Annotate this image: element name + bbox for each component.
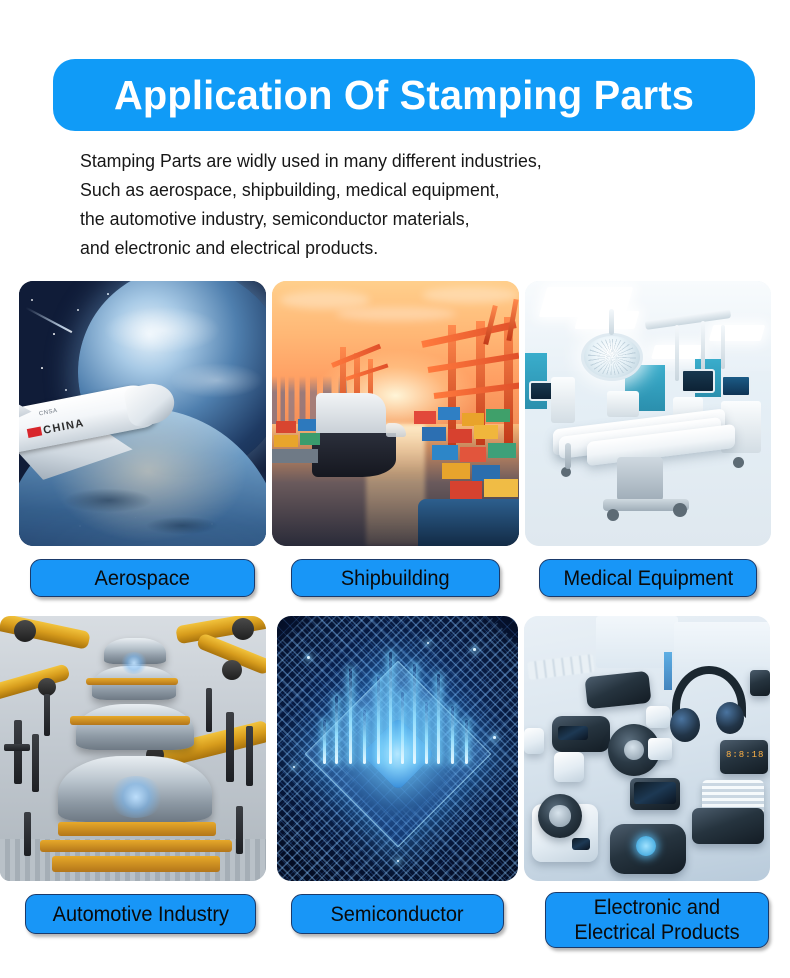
fixture-post	[246, 726, 253, 786]
electronic-and-electrical-products-image: 8:8:18	[524, 616, 770, 881]
pendant-column	[721, 325, 725, 369]
table-column	[617, 457, 663, 501]
keyboard	[527, 654, 595, 680]
spark	[293, 766, 295, 768]
shipbuilding-image	[272, 281, 519, 546]
device-cylinder	[554, 752, 584, 782]
cloud	[336, 307, 456, 321]
industry-label: Aerospace	[95, 566, 190, 591]
device-screen	[634, 782, 676, 804]
light-beam	[389, 652, 392, 764]
container	[298, 419, 316, 431]
medical-equipment-image	[525, 281, 771, 546]
fixture-crossbar	[4, 744, 30, 751]
lamp-arm	[609, 309, 614, 335]
speaker-center	[624, 740, 645, 761]
container	[276, 421, 296, 433]
light-beam	[363, 710, 366, 764]
container	[432, 445, 458, 460]
assembly-line-scene	[0, 616, 266, 881]
poster-page: Application Of Stamping Parts Stamping P…	[0, 0, 790, 977]
label-pill-medical-equipment[interactable]: Medical Equipment	[539, 559, 757, 597]
container	[474, 425, 498, 439]
light-beam	[451, 706, 454, 764]
robot-joint	[14, 620, 36, 642]
monitor	[681, 369, 715, 393]
container	[300, 433, 320, 445]
pallet	[52, 856, 220, 872]
led-indicator	[636, 836, 656, 856]
fixture-post	[24, 812, 31, 856]
container	[488, 443, 516, 458]
device-small	[750, 670, 770, 696]
intro-line-3: the automotive industry, semiconductor m…	[80, 204, 704, 233]
intro-line-4: and electronic and electrical products.	[80, 233, 704, 262]
caster-wheel	[607, 509, 619, 521]
device-slab	[585, 671, 652, 710]
device-port	[572, 838, 590, 850]
industry-label: Semiconductor	[331, 902, 464, 927]
light-beam	[425, 702, 428, 764]
device-cube	[646, 706, 670, 728]
label-pill-semiconductor[interactable]: Semiconductor	[291, 894, 504, 934]
container-ship-hull	[418, 499, 519, 546]
car-body	[76, 704, 194, 750]
container	[438, 407, 460, 420]
industry-card-aerospace[interactable]: CNSA CHINA Aerospace	[19, 281, 266, 546]
container	[414, 411, 436, 424]
container	[486, 409, 510, 422]
container	[442, 463, 470, 479]
cloud	[280, 291, 370, 309]
headphone-earcup	[716, 702, 744, 734]
fixture-post	[44, 694, 50, 736]
light-beam	[413, 664, 416, 764]
conveyor-rail	[70, 716, 190, 725]
caster-wheel	[733, 457, 744, 468]
fixture-post	[32, 734, 39, 792]
light-beam	[465, 720, 468, 764]
industry-card-shipbuilding[interactable]: Shipbuilding	[272, 281, 519, 546]
intro-line-2: Such as aerospace, shipbuilding, medical…	[80, 175, 704, 204]
speaker-stand	[648, 738, 672, 760]
caster-wheel	[673, 503, 687, 517]
intro-line-1: Stamping Parts are widly used in many di…	[80, 146, 704, 175]
blue-accent-strip	[664, 652, 672, 690]
headphone-earcup	[670, 708, 700, 742]
industry-label: Medical Equipment	[563, 566, 733, 591]
device-small	[524, 728, 544, 754]
spark	[307, 656, 310, 659]
container	[448, 429, 472, 443]
conveyor-rail	[40, 840, 232, 852]
label-pill-shipbuilding[interactable]: Shipbuilding	[291, 559, 500, 597]
light-beam	[437, 674, 440, 764]
quay-edge	[272, 449, 318, 463]
robot-joint	[232, 618, 254, 640]
weld-glow	[120, 652, 148, 674]
aerospace-image: CNSA CHINA	[19, 281, 266, 546]
display-digits: 8:8:18	[726, 750, 764, 760]
industry-grid-row-2: Automotive Industry	[0, 616, 790, 978]
intro-paragraph: Stamping Parts are widly used in many di…	[80, 146, 730, 262]
light-beam	[335, 696, 338, 764]
gantry-leg	[448, 325, 456, 445]
device-base	[692, 808, 764, 844]
label-pill-electronic-and-electrical-products[interactable]: Electronic and Electrical Products	[545, 892, 769, 948]
spark	[397, 860, 399, 862]
industry-label: Electronic and Electrical Products	[574, 895, 739, 945]
pendant-column	[675, 325, 679, 381]
ceiling-light-panel	[709, 325, 766, 341]
fixture-post	[236, 806, 243, 854]
industry-card-electronic-and-electrical-products[interactable]: 8:8:18	[524, 616, 770, 881]
robot-arm	[0, 663, 71, 700]
monitor	[721, 375, 751, 397]
automotive-industry-image	[0, 616, 266, 881]
industry-label: Automotive Industry	[52, 902, 228, 927]
industry-label: Shipbuilding	[341, 566, 450, 591]
label-pill-aerospace[interactable]: Aerospace	[30, 559, 255, 597]
circuit-board-scene	[277, 616, 518, 881]
light-beam	[401, 692, 404, 764]
container	[450, 481, 482, 499]
dial-center	[549, 805, 570, 826]
industry-card-semiconductor[interactable]: Semiconductor	[277, 616, 518, 881]
industry-card-automotive-industry[interactable]: Automotive Industry	[0, 616, 266, 881]
port-scene	[272, 281, 519, 546]
equipment-cart	[551, 377, 575, 423]
conveyor-rail	[58, 822, 216, 836]
cloud	[422, 287, 518, 303]
equipment-cart	[607, 391, 639, 417]
container	[484, 479, 518, 497]
semiconductor-image	[277, 616, 518, 881]
industry-grid: CNSA CHINA Aerospace	[0, 281, 790, 978]
vessel-superstructure	[316, 393, 386, 437]
label-pill-automotive-industry[interactable]: Automotive Industry	[25, 894, 256, 934]
container	[460, 447, 486, 462]
container	[274, 435, 298, 447]
spark	[427, 642, 429, 644]
light-beam	[349, 668, 352, 764]
container	[422, 427, 446, 441]
gadgets-scene: 8:8:18	[524, 616, 770, 881]
fixture-post	[14, 720, 22, 784]
spark	[473, 648, 476, 651]
spark	[493, 736, 496, 739]
fixture-post	[226, 712, 234, 782]
surgical-lamp	[581, 333, 643, 381]
conveyor-rail	[86, 678, 178, 685]
table-leg	[565, 443, 571, 469]
industry-grid-row-1: CNSA CHINA Aerospace	[0, 281, 790, 616]
fixture-post	[206, 688, 212, 732]
device-screen	[558, 726, 588, 740]
dial-knob	[538, 794, 582, 838]
weld-glow	[108, 776, 164, 818]
vessel-hull	[312, 433, 396, 477]
shuttle-nose	[123, 380, 178, 428]
pendant-column	[701, 321, 705, 371]
lamp-spokes	[588, 339, 635, 374]
page-title: Application Of Stamping Parts	[114, 72, 694, 119]
robot-joint	[222, 660, 242, 680]
operating-room-scene	[525, 281, 771, 546]
page-title-banner: Application Of Stamping Parts	[53, 59, 755, 131]
industry-card-medical-equipment[interactable]: Medical Equipment	[525, 281, 771, 546]
light-beam	[323, 720, 326, 764]
ceiling-light-panel	[574, 311, 639, 329]
space-background: CNSA CHINA	[19, 281, 266, 546]
light-beam	[377, 676, 380, 764]
